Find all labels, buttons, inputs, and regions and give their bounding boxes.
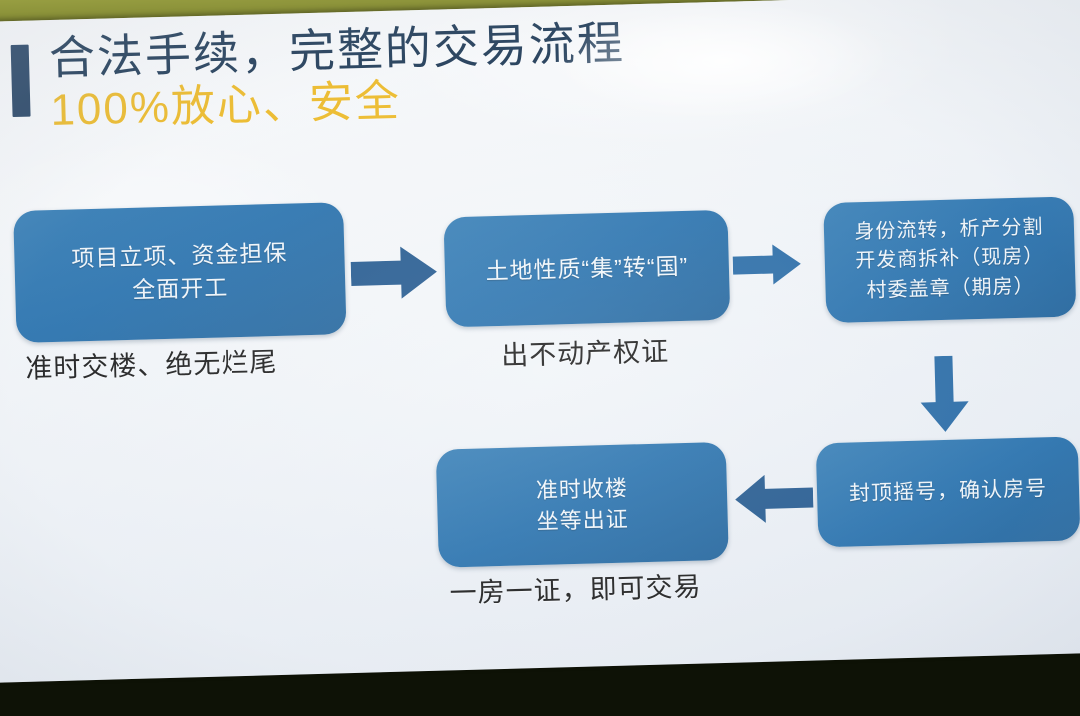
arrow-left-icon-4 xyxy=(734,472,813,526)
arrow-right-icon-1 xyxy=(350,244,437,302)
flow-node-5-text: 准时收楼 坐等出证 xyxy=(535,472,629,537)
flow-node-2-caption: 出不动产权证 xyxy=(501,329,670,373)
flow-node-3-text: 身份流转，析产分割 开发商拆补（现房） 村委盖章（期房） xyxy=(854,213,1045,307)
flow-node-4-text: 封顶摇号，确认房号 xyxy=(849,474,1048,509)
projection-screen-wrapper: 合法手续，完整的交易流程 100%放心、安全 项目立项、资金担保 全面开工 准时… xyxy=(0,0,1080,683)
flow-node-1-text: 项目立项、资金担保 全面开工 xyxy=(71,237,289,308)
slide-title-block: 合法手续，完整的交易流程 100%放心、安全 xyxy=(6,13,906,37)
flow-node-3[interactable]: 身份流转，析产分割 开发商拆补（现房） 村委盖章（期房） xyxy=(823,196,1076,323)
arrow-right-icon-2 xyxy=(732,242,801,288)
flow-node-2-text: 土地性质“集”转“国” xyxy=(485,250,688,288)
flow-node-4[interactable]: 封顶摇号，确认房号 xyxy=(816,436,1080,547)
projection-screen: 合法手续，完整的交易流程 100%放心、安全 项目立项、资金担保 全面开工 准时… xyxy=(0,0,1080,683)
title-accent-bar xyxy=(11,45,31,117)
flow-node-1-caption: 准时交楼、绝无烂尾 xyxy=(25,340,278,386)
flow-node-2[interactable]: 土地性质“集”转“国” xyxy=(443,210,730,328)
page-title: 合法手续，完整的交易流程 xyxy=(48,18,625,82)
arrow-down-icon-3 xyxy=(917,355,971,432)
flow-node-5[interactable]: 准时收楼 坐等出证 xyxy=(436,442,729,568)
slide-content: 合法手续，完整的交易流程 100%放心、安全 项目立项、资金担保 全面开工 准时… xyxy=(0,0,1080,715)
flow-node-1[interactable]: 项目立项、资金担保 全面开工 xyxy=(13,202,346,343)
page-subtitle: 100%放心、安全 xyxy=(50,79,402,135)
flow-node-5-caption: 一房一证，即可交易 xyxy=(449,565,702,611)
